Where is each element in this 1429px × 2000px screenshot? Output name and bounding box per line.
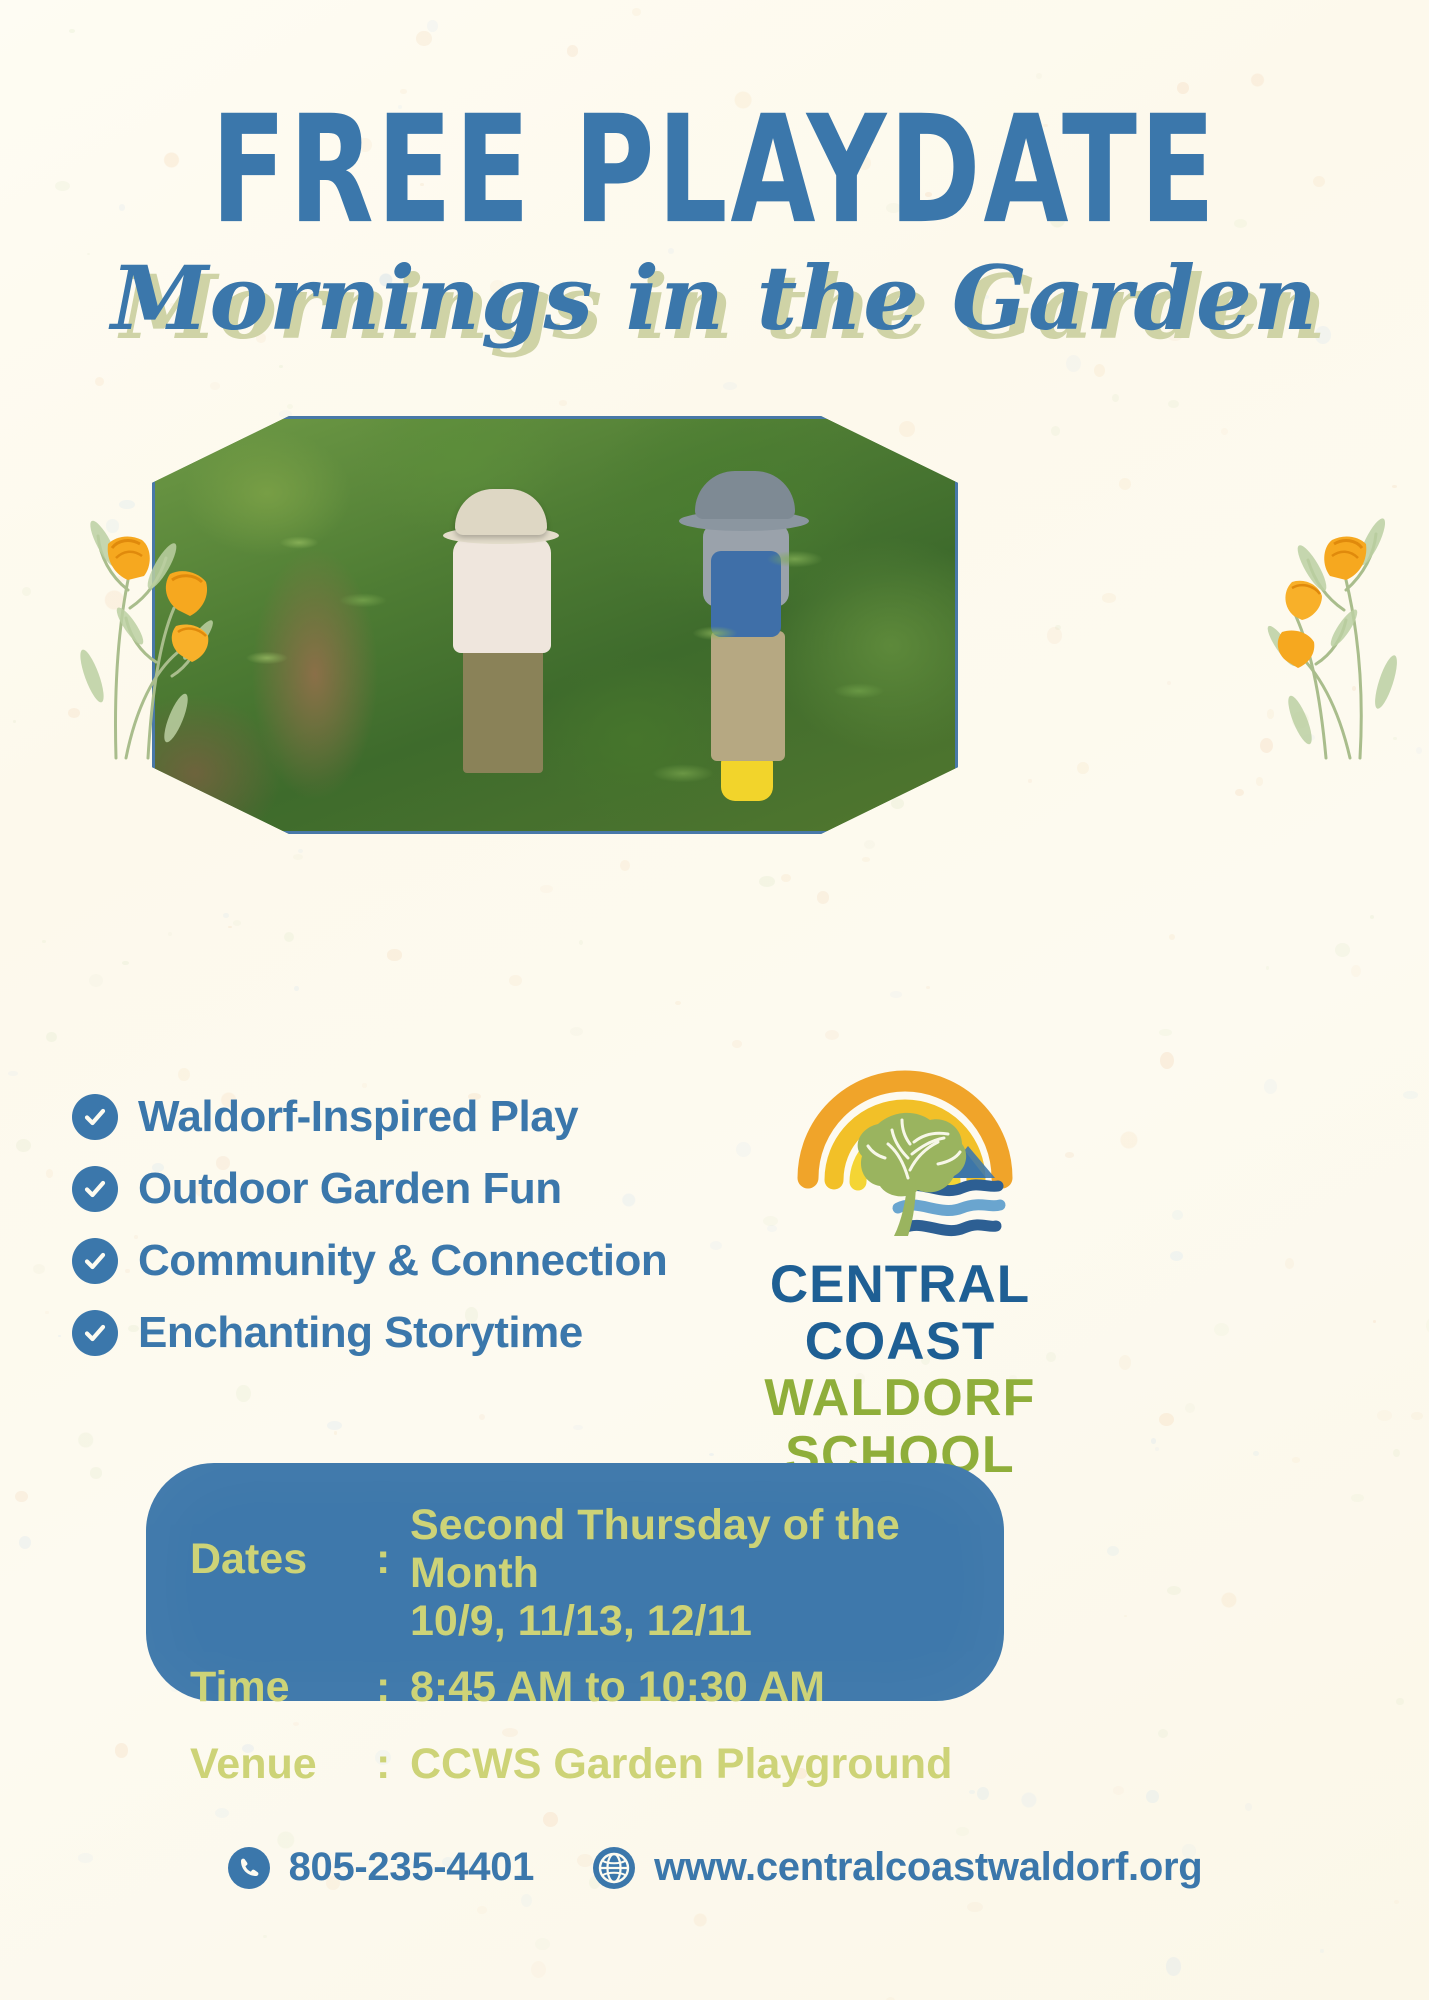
venue-value: CCWS Garden Playground [410, 1740, 952, 1788]
event-details-rows: Dates : Second Thursday of the Month 10/… [190, 1491, 980, 1789]
poster-canvas: FREE PLAYDATE Mornings in the Garden Mor… [0, 0, 1429, 2000]
phone-icon [227, 1846, 271, 1890]
venue-label: Venue [190, 1740, 376, 1789]
dates-value-line1: Second Thursday of the Month [410, 1501, 900, 1597]
event-details-box: Dates : Second Thursday of the Month 10/… [146, 1463, 1004, 1701]
check-circle-icon [72, 1166, 118, 1212]
time-label: Time [190, 1663, 376, 1712]
poppy-bloom-top-right [1324, 537, 1366, 580]
detail-row-time: Time : 8:45 AM to 10:30 AM [190, 1663, 980, 1712]
poppy-bloom-mid-right [1285, 581, 1322, 620]
page-subtitle: Mornings in the Garden [0, 248, 1429, 349]
phone-number: 805-235-4401 [289, 1845, 535, 1890]
phone-contact[interactable]: 805-235-4401 [227, 1845, 535, 1890]
california-poppy-icon-right [1240, 440, 1420, 760]
photo-foliage-overlay [155, 419, 955, 831]
sun-tree-waves-logo-icon [790, 1028, 1020, 1258]
school-logo: CENTRAL COAST WALDORF SCHOOL [690, 1028, 1110, 1418]
checklist-label: Waldorf-Inspired Play [138, 1092, 578, 1142]
globe-icon [592, 1846, 636, 1890]
dates-value: Second Thursday of the Month 10/9, 11/13… [410, 1501, 980, 1645]
website-contact[interactable]: www.centralcoastwaldorf.org [592, 1845, 1202, 1890]
feature-checklist: Waldorf-Inspired Play Outdoor Garden Fun… [72, 1092, 772, 1380]
checklist-label: Community & Connection [138, 1236, 667, 1286]
poppy-bloom-low-right [1278, 630, 1315, 668]
list-item: Enchanting Storytime [72, 1308, 772, 1358]
checklist-label: Enchanting Storytime [138, 1308, 583, 1358]
list-item: Outdoor Garden Fun [72, 1164, 772, 1214]
detail-row-venue: Venue : CCWS Garden Playground [190, 1740, 980, 1789]
time-value: 8:45 AM to 10:30 AM [410, 1663, 825, 1711]
logo-wordmark: CENTRAL COAST WALDORF SCHOOL [690, 1256, 1110, 1483]
check-circle-icon [72, 1094, 118, 1140]
contact-footer: 805-235-4401 www.centralcoastwaldorf.org [0, 1845, 1429, 1890]
venue-colon: : [376, 1740, 410, 1789]
subtitle-group: Mornings in the Garden Mornings in the G… [0, 248, 1429, 378]
time-colon: : [376, 1663, 410, 1712]
check-circle-icon [72, 1310, 118, 1356]
logo-line-central-coast: CENTRAL COAST [690, 1256, 1110, 1370]
list-item: Waldorf-Inspired Play [72, 1092, 772, 1142]
checklist-label: Outdoor Garden Fun [138, 1164, 562, 1214]
dates-label: Dates [190, 1535, 376, 1584]
page-title: FREE PLAYDATE [21, 96, 1407, 245]
website-url: www.centralcoastwaldorf.org [654, 1845, 1202, 1890]
dates-value-line2: 10/9, 11/13, 12/11 [410, 1597, 752, 1645]
dates-colon: : [376, 1535, 410, 1584]
check-circle-icon [72, 1238, 118, 1284]
list-item: Community & Connection [72, 1236, 772, 1286]
detail-row-dates: Dates : Second Thursday of the Month 10/… [190, 1501, 980, 1645]
garden-photo [152, 416, 958, 834]
poppy-bloom-top [108, 537, 150, 580]
